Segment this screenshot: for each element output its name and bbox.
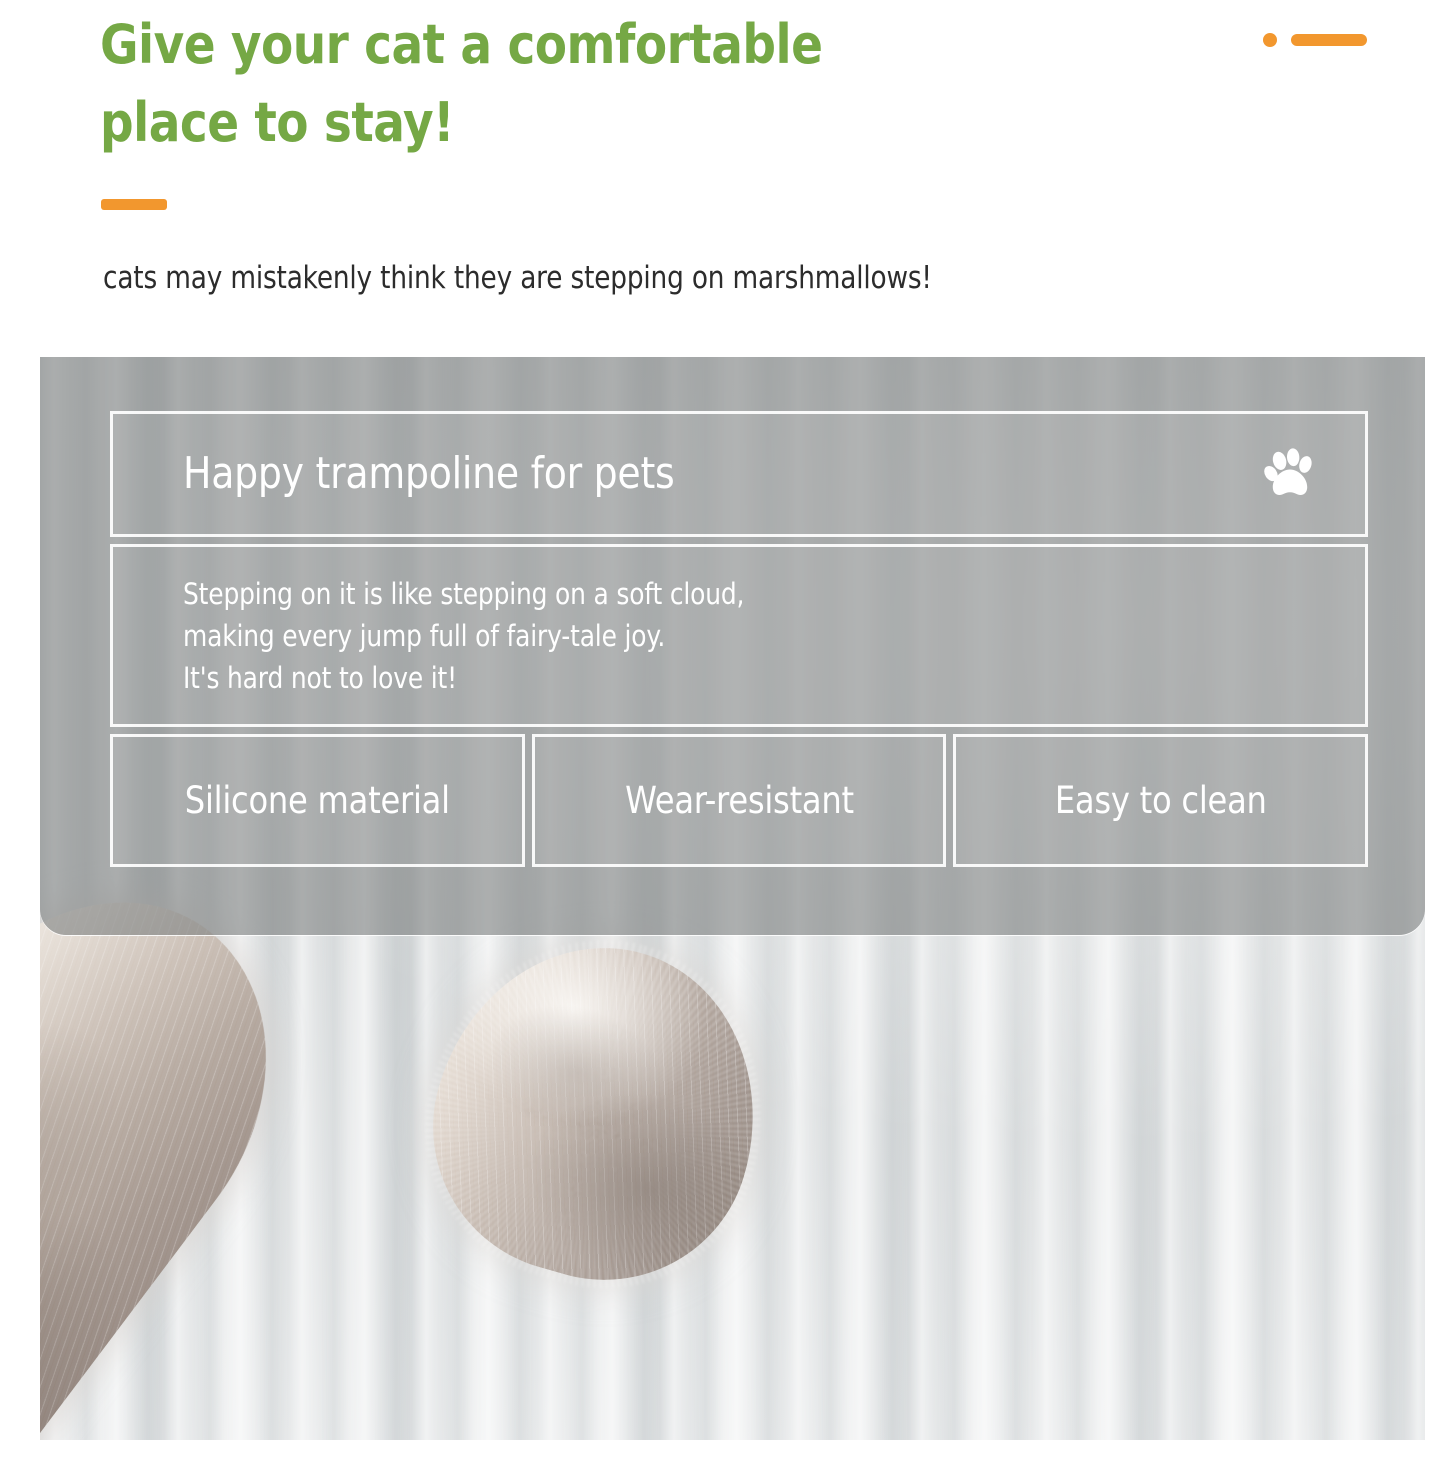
translucent-overlay-panel: Happy trampoline for pets Stepping on it… <box>40 357 1425 935</box>
feature-label: Silicone material <box>185 779 450 823</box>
feature-box-silicone-material: Silicone material <box>110 734 525 867</box>
header-section: Give your cat a comfortable place to sta… <box>0 0 1445 345</box>
cat-paw <box>399 910 796 1315</box>
card-title: Happy trampoline for pets <box>183 449 675 499</box>
feature-box-row: Silicone material Wear-resistant Easy to… <box>110 734 1368 867</box>
accent-bar-icon <box>1291 34 1367 46</box>
page-subtitle: cats may mistakenly think they are stepp… <box>103 256 932 300</box>
page-headline: Give your cat a comfortable place to sta… <box>100 6 970 162</box>
card-title-box: Happy trampoline for pets <box>110 411 1368 537</box>
feature-box-wear-resistant: Wear-resistant <box>532 734 947 867</box>
bottom-white-strip <box>0 1440 1445 1462</box>
feature-box-easy-to-clean: Easy to clean <box>953 734 1368 867</box>
paw-print-icon <box>1261 445 1319 503</box>
feature-label: Easy to clean <box>1055 779 1267 823</box>
cat-paw-shading <box>399 910 796 1315</box>
feature-label: Wear-resistant <box>625 779 854 823</box>
product-info-card: Happy trampoline for pets Stepping on it… <box>110 411 1368 867</box>
accent-underline-icon <box>101 199 167 210</box>
hero-photo: Happy trampoline for pets Stepping on it… <box>40 357 1425 1440</box>
card-description: Stepping on it is like stepping on a sof… <box>183 573 744 699</box>
card-description-box: Stepping on it is like stepping on a sof… <box>110 544 1368 727</box>
accent-dot-icon <box>1263 33 1277 47</box>
